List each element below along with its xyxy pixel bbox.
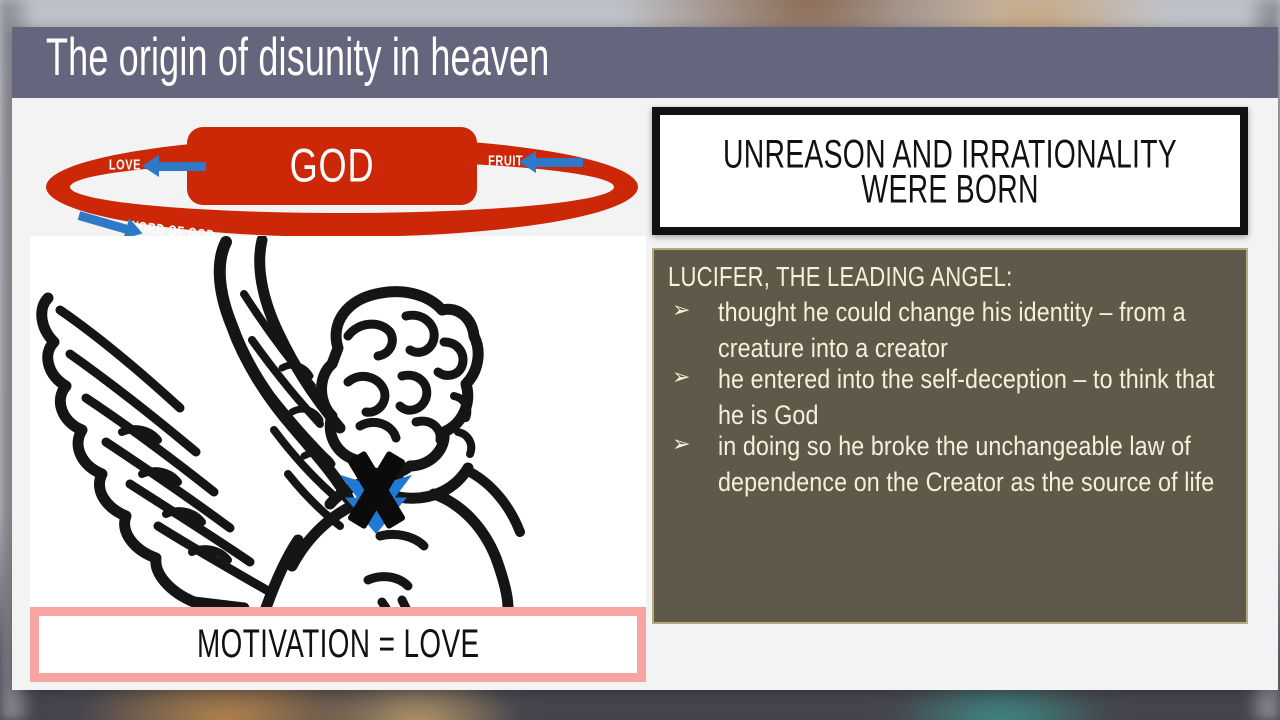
arrow-bullet-icon: ➢ <box>668 429 718 458</box>
lucifer-bullets-panel: LUCIFER, THE LEADING ANGEL: ➢ thought he… <box>652 248 1248 624</box>
list-item: ➢ in doing so he broke the unchangeable … <box>668 429 1232 493</box>
god-ring-diagram: GOD LOVE FRUIT WORD OF GOD <box>30 115 644 253</box>
blue-burst-arrow-with-x <box>333 458 419 534</box>
ring-label-fruit: FRUIT <box>488 152 523 169</box>
arrow-bullet-icon: ➢ <box>668 295 718 324</box>
bullet-text: thought he could change his identity – f… <box>718 295 1217 367</box>
angel-line-art-svg <box>30 236 646 608</box>
headline-box: UNREASON AND IRRATIONALITY WERE BORN <box>652 107 1248 235</box>
arrow-love-icon <box>158 162 206 171</box>
slide-stage: The origin of disunity in heaven GOD LOV… <box>0 0 1280 720</box>
bullet-text: in doing so he broke the unchangeable la… <box>718 429 1217 501</box>
god-center-label: GOD <box>207 122 456 209</box>
bullets-heading: LUCIFER, THE LEADING ANGEL: <box>668 262 1187 294</box>
arrow-fruit-icon <box>535 158 583 167</box>
presentation-slide: The origin of disunity in heaven GOD LOV… <box>12 27 1278 690</box>
slide-title-bar: The origin of disunity in heaven <box>12 27 1278 98</box>
black-x-icon <box>339 450 413 530</box>
list-item: ➢ thought he could change his identity –… <box>668 295 1232 359</box>
headline-line-2: WERE BORN <box>861 167 1038 209</box>
angel-illustration <box>30 236 646 608</box>
slide-title: The origin of disunity in heaven <box>46 26 549 87</box>
list-item: ➢ he entered into the self-deception – t… <box>668 362 1232 426</box>
motivation-box: MOTIVATION = LOVE <box>30 607 646 682</box>
ring-label-love: LOVE <box>109 156 141 173</box>
arrow-bullet-icon: ➢ <box>668 362 718 391</box>
bullet-text: he entered into the self-deception – to … <box>718 362 1217 434</box>
god-center-box: GOD <box>187 127 477 205</box>
motivation-text: MOTIVATION = LOVE <box>197 621 479 667</box>
